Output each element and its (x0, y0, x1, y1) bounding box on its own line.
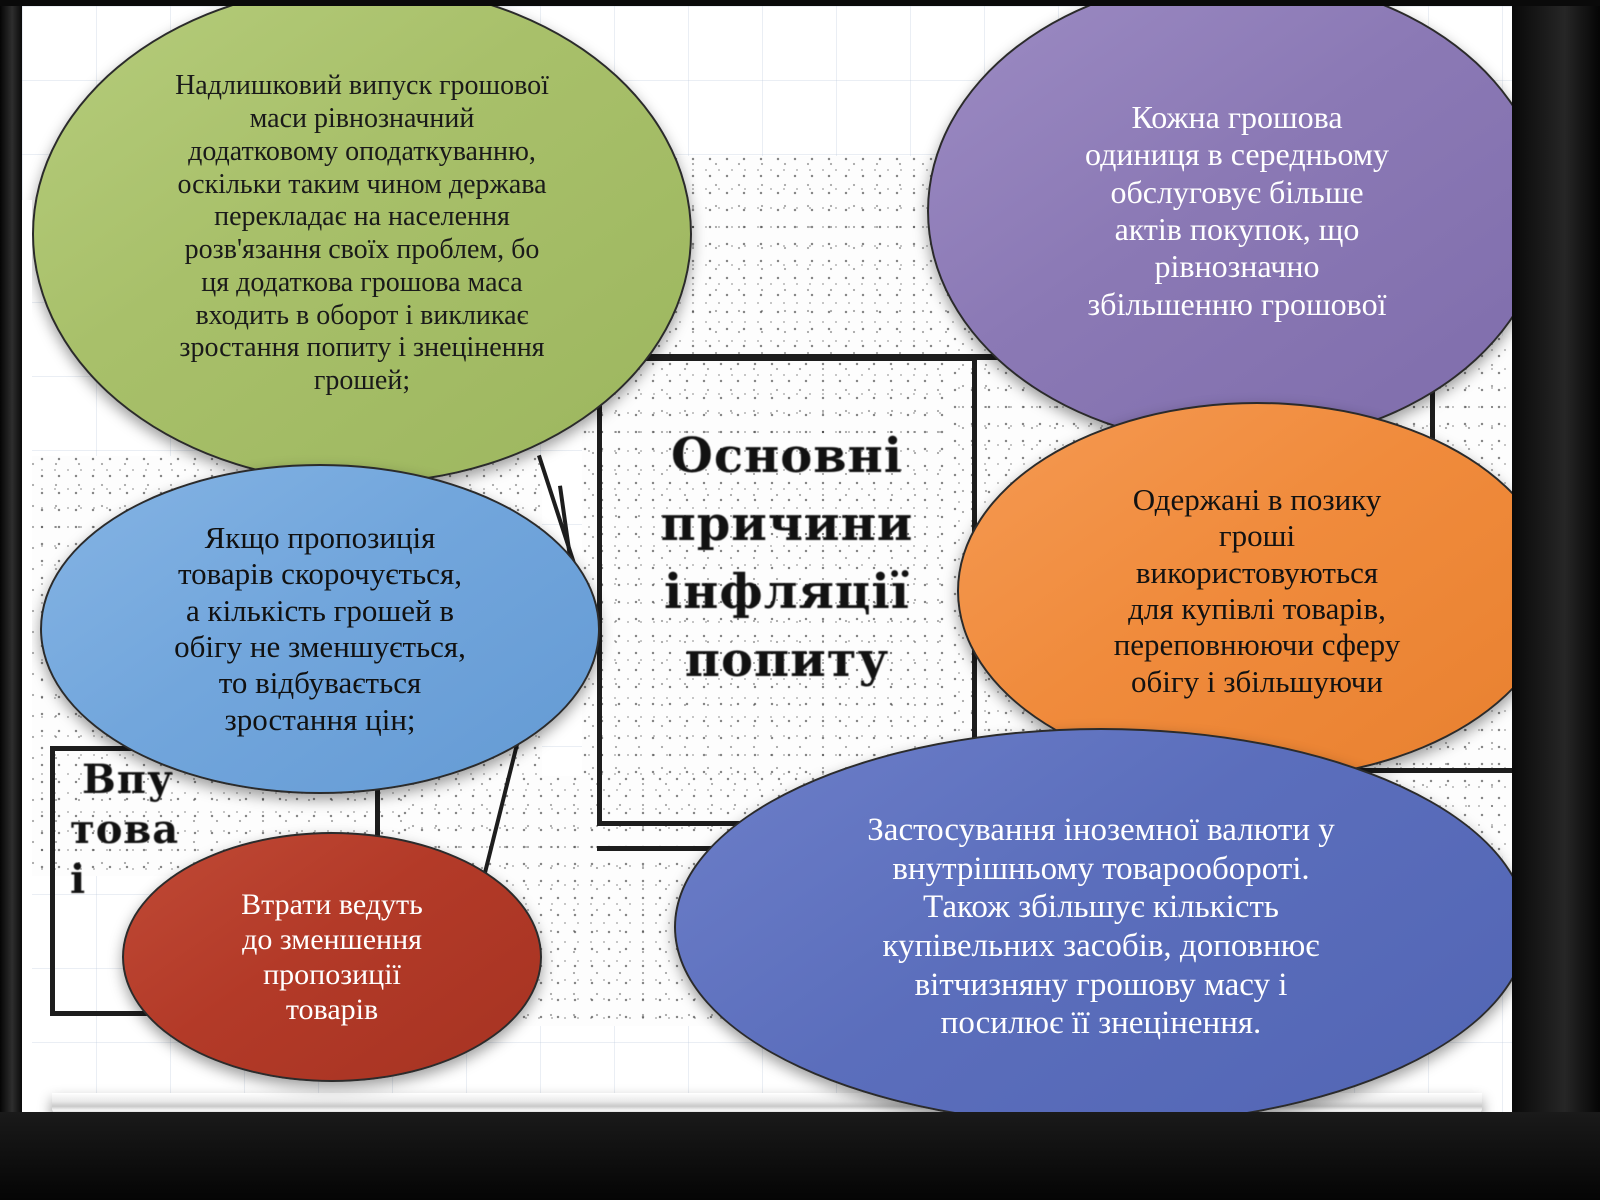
window-frame-left (0, 0, 22, 1200)
scan-title-line-1: Основні (597, 428, 977, 484)
callout-ellipse-red-text: Втрати ведуть до зменшення пропозиції то… (157, 887, 506, 1027)
callout-ellipse-light-blue[interactable]: Якщо пропозиція товарів скорочується, а … (40, 464, 600, 794)
window-frame-top (0, 0, 1600, 6)
window-frame-right (1512, 0, 1600, 1200)
callout-ellipse-light-blue-text: Якщо пропозиція товарів скорочується, а … (86, 520, 553, 738)
callout-ellipse-orange-text: Одержані в позику гроші використовуються… (1007, 482, 1508, 700)
callout-ellipse-green-text: Надлишковий випуск грошової маси рівнозн… (86, 70, 637, 398)
callout-ellipse-red[interactable]: Втрати ведуть до зменшення пропозиції то… (122, 832, 542, 1082)
slide-stage: Основні причини інфляції попиту Впу това… (0, 0, 1600, 1200)
callout-ellipse-purple-text: Кожна грошова одиниця в середньому обслу… (978, 99, 1495, 324)
window-frame-bottom (0, 1112, 1600, 1200)
presentation-slide: Основні причини інфляції попиту Впу това… (22, 6, 1512, 1112)
scan-title-line-4: попиту (597, 632, 977, 688)
scan-title-line-2: причини (597, 496, 977, 552)
callout-ellipse-green[interactable]: Надлишковий випуск грошової маси рівнозн… (32, 6, 692, 484)
scan-title-line-3: інфляції (597, 564, 977, 620)
callout-ellipse-dark-blue-text: Застосування іноземної валюти у внутрішн… (744, 811, 1458, 1043)
callout-ellipse-dark-blue[interactable]: Застосування іноземної валюти у внутрішн… (674, 728, 1512, 1112)
